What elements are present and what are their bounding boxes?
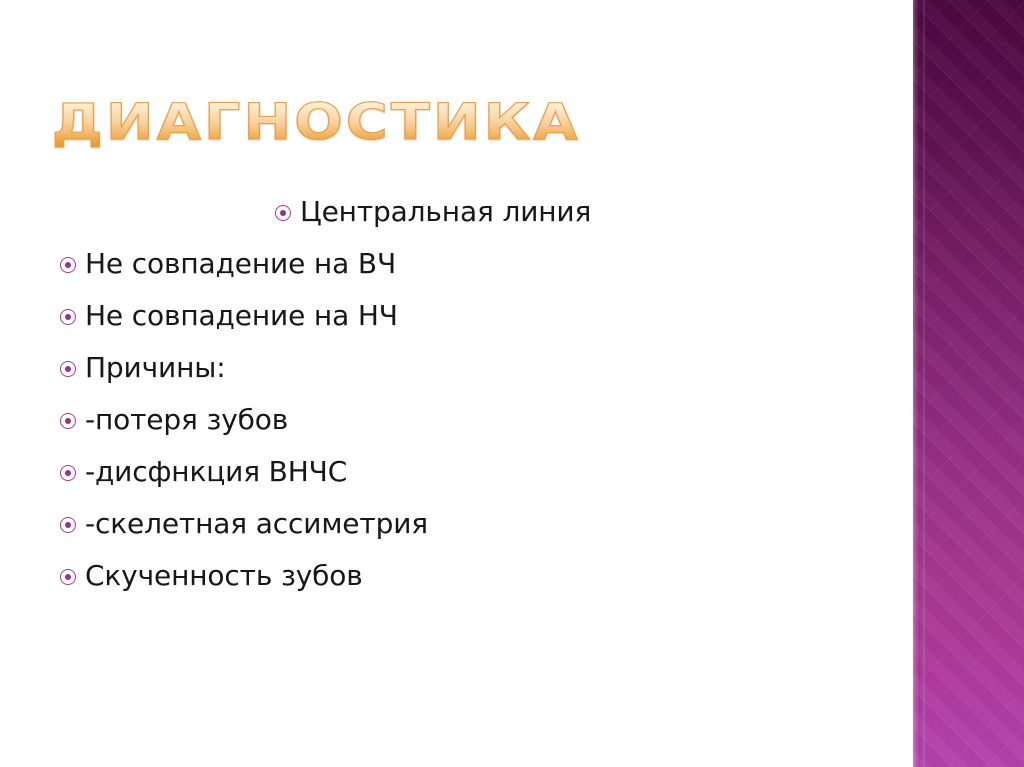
bullseye-bullet-icon bbox=[60, 413, 76, 429]
list-item: Не совпадение на НЧ bbox=[0, 290, 900, 342]
bullseye-bullet-icon bbox=[60, 569, 76, 585]
list-item: Причины: bbox=[0, 342, 900, 394]
bullseye-bullet-icon bbox=[60, 517, 76, 533]
list-item: Скученность зубов bbox=[0, 550, 900, 602]
bullseye-bullet-icon bbox=[60, 465, 76, 481]
list-item: Центральная линия bbox=[0, 186, 900, 238]
list-item-label: Центральная линия bbox=[300, 195, 591, 229]
list-item-label: -потеря зубов bbox=[85, 403, 288, 437]
list-item: -потеря зубов bbox=[0, 394, 900, 446]
list-item-label: Не совпадение на ВЧ bbox=[85, 247, 396, 281]
list-item: -скелетная ассиметрия bbox=[0, 498, 900, 550]
presentation-slide: ДИАГНОСТИКА Центральная линияНе совпаден… bbox=[0, 0, 1024, 767]
bullseye-bullet-icon bbox=[60, 361, 76, 377]
bullseye-bullet-icon bbox=[275, 205, 291, 221]
bullseye-bullet-icon bbox=[60, 309, 76, 325]
list-item-label: Причины: bbox=[85, 351, 226, 385]
list-item: Не совпадение на ВЧ bbox=[0, 238, 900, 290]
page-title: ДИАГНОСТИКА bbox=[52, 92, 964, 152]
title-area: ДИАГНОСТИКА bbox=[52, 92, 852, 164]
list-item-label: Скученность зубов bbox=[85, 559, 363, 593]
list-item-label: Не совпадение на НЧ bbox=[85, 299, 398, 333]
list-item: -дисфнкция ВНЧС bbox=[0, 446, 900, 498]
list-item-label: -скелетная ассиметрия bbox=[85, 507, 428, 541]
bullet-list: Центральная линияНе совпадение на ВЧНе с… bbox=[0, 186, 900, 602]
list-item-label: -дисфнкция ВНЧС bbox=[85, 455, 347, 489]
bullseye-bullet-icon bbox=[60, 257, 76, 273]
